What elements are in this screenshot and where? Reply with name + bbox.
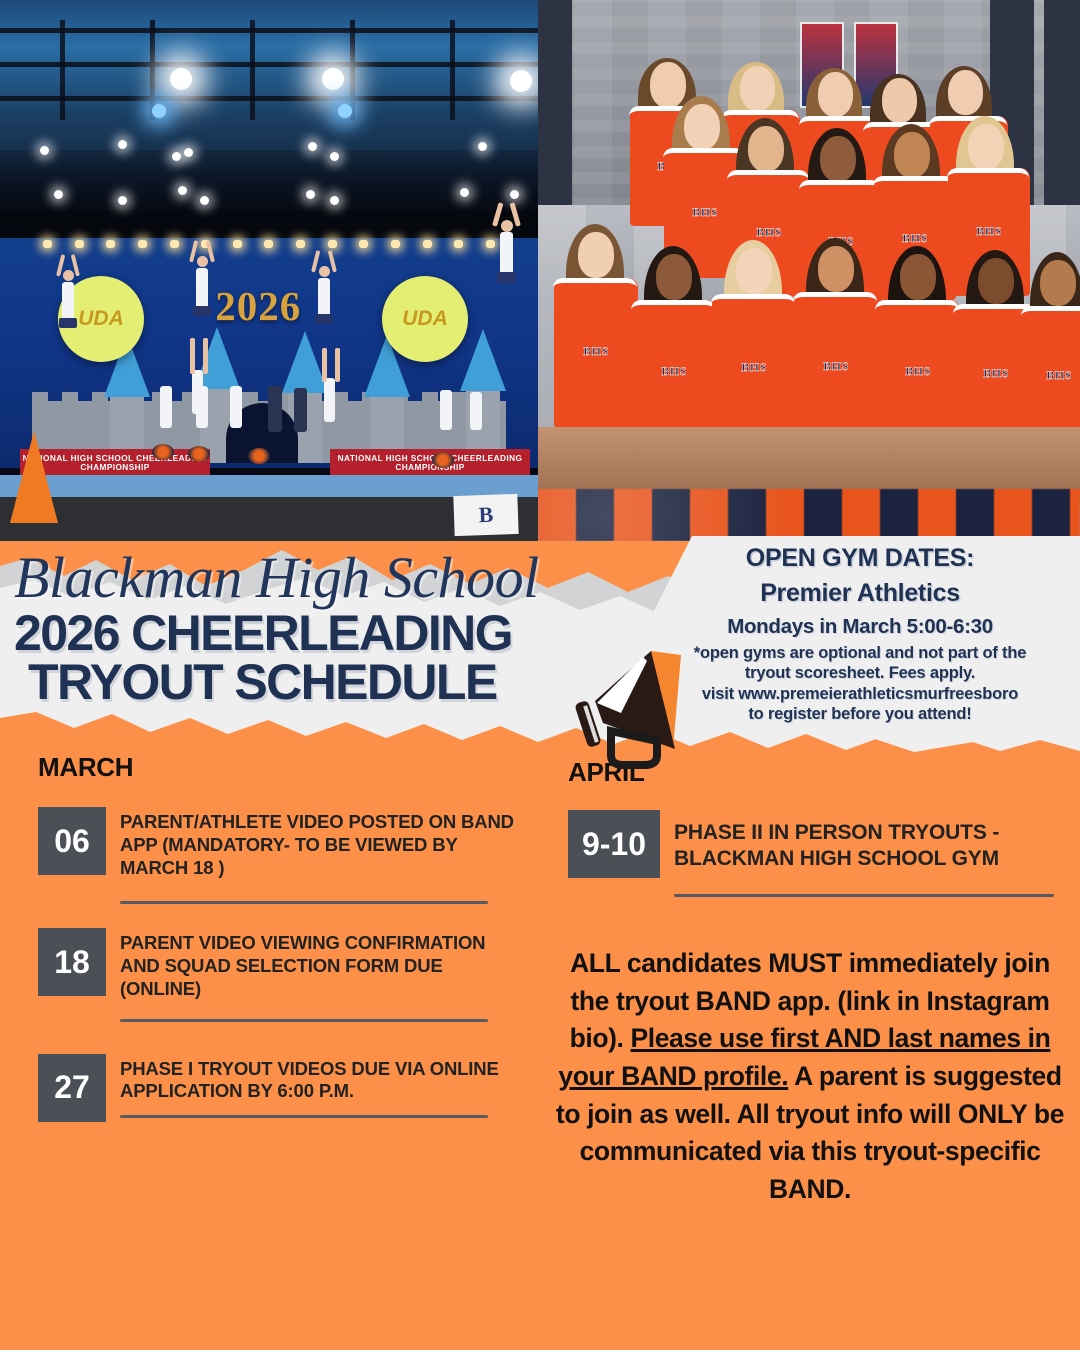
traffic-cone <box>10 431 58 523</box>
open-gym-note-4: to register before you attend! <box>640 704 1080 724</box>
photo-band: UDA UDA 2026 NATIONAL HIGH SCHOOL CHEERL… <box>0 0 1080 541</box>
pom-pom <box>248 448 270 464</box>
pom-pom <box>152 444 174 460</box>
school-sign: B <box>453 494 518 536</box>
truss-beam <box>450 20 455 120</box>
schedule-item: 06 PARENT/ATHLETE VIDEO POSTED ON BAND A… <box>38 807 518 904</box>
schedule-item-text: PARENT/ATHLETE VIDEO POSTED ON BAND APP … <box>120 811 518 879</box>
pom-pom <box>432 452 454 468</box>
truss-beam <box>0 62 538 67</box>
stage-light <box>330 152 339 161</box>
divider <box>120 1115 488 1118</box>
open-gym-location: Premier Athletics <box>640 579 1080 608</box>
open-gym-note-3: visit www.premeierathleticsmurfreesboro <box>640 684 1080 704</box>
coach-figure <box>268 386 282 432</box>
title-line-2: TRYOUT SCHEDULE <box>28 658 539 707</box>
date-badge: 27 <box>38 1054 106 1122</box>
stage-light <box>178 186 187 195</box>
truss-beam <box>0 96 538 101</box>
truss-beam <box>0 28 538 33</box>
stage-light <box>170 68 192 90</box>
flyer-headline: Blackman High School 2026 CHEERLEADING T… <box>14 548 539 707</box>
stage-light <box>478 142 487 151</box>
schedule-item: 27 PHASE I TRYOUT VIDEOS DUE VIA ONLINE … <box>38 1054 518 1122</box>
open-gym-info: OPEN GYM DATES: Premier Athletics Monday… <box>640 544 1080 725</box>
pom-pom-row <box>538 489 1080 541</box>
school-name: Blackman High School <box>14 548 539 607</box>
truss-beam <box>250 20 255 120</box>
uda-logo: UDA <box>382 276 468 362</box>
open-gym-time: Mondays in March 5:00-6:30 <box>640 615 1080 639</box>
stage-light <box>172 152 181 161</box>
stage-light <box>118 140 127 149</box>
competition-stage-photo: UDA UDA 2026 NATIONAL HIGH SCHOOL CHEERL… <box>0 0 538 541</box>
stage-light <box>40 146 49 155</box>
month-label-march: MARCH <box>38 752 518 783</box>
championship-banner: NATIONAL HIGH SCHOOL CHEERLEADING CHAMPI… <box>330 449 530 477</box>
band-app-note: ALL candidates MUST immediately join the… <box>548 945 1072 1208</box>
stage-light <box>306 190 315 199</box>
truss-beam <box>350 20 355 120</box>
schedule-item: 18 PARENT VIDEO VIEWING CONFIRMATION AND… <box>38 928 518 1021</box>
date-badge: 06 <box>38 807 106 875</box>
stage-light <box>460 188 469 197</box>
stage-light <box>330 196 339 205</box>
schedule-item-text: PARENT VIDEO VIEWING CONFIRMATION AND SQ… <box>120 932 518 1000</box>
page-title: 2026 CHEERLEADING TRYOUT SCHEDULE <box>14 609 539 707</box>
stage-light <box>338 104 352 118</box>
year-sign: 2026 <box>215 282 301 330</box>
stage-light <box>184 148 193 157</box>
stage-light <box>510 190 519 199</box>
stage-light <box>152 104 166 118</box>
april-schedule-column: APRIL 9-10 PHASE II IN PERSON TRYOUTS - … <box>568 757 1060 897</box>
title-line-1: 2026 CHEERLEADING <box>14 605 512 661</box>
schedule-item-text: PHASE I TRYOUT VIDEOS DUE VIA ONLINE APP… <box>120 1058 518 1104</box>
stage-light <box>54 190 63 199</box>
pom-pom <box>188 446 210 462</box>
divider <box>674 894 1054 897</box>
coach-figure <box>294 388 307 432</box>
stage-light <box>510 70 532 92</box>
stage-light <box>322 68 344 90</box>
stage-light <box>200 196 209 205</box>
team-group-photo <box>538 0 1080 541</box>
open-gym-heading: OPEN GYM DATES: <box>640 544 1080 573</box>
schedule-item-text: PHASE II IN PERSON TRYOUTS - BLACKMAN HI… <box>674 820 1060 872</box>
march-schedule-column: MARCH 06 PARENT/ATHLETE VIDEO POSTED ON … <box>38 752 518 1122</box>
stage-light <box>118 196 127 205</box>
stage-light <box>308 142 317 151</box>
open-gym-note-1: *open gyms are optional and not part of … <box>640 643 1080 663</box>
pillar <box>1044 0 1080 240</box>
date-badge: 18 <box>38 928 106 996</box>
divider <box>120 1019 488 1022</box>
schedule-item: 9-10 PHASE II IN PERSON TRYOUTS - BLACKM… <box>568 810 1060 897</box>
divider <box>120 901 488 904</box>
date-badge: 9-10 <box>568 810 660 878</box>
open-gym-note-2: tryout scoresheet. Fees apply. <box>640 663 1080 683</box>
truss-beam <box>60 20 65 120</box>
stage-light-bar <box>43 240 495 248</box>
